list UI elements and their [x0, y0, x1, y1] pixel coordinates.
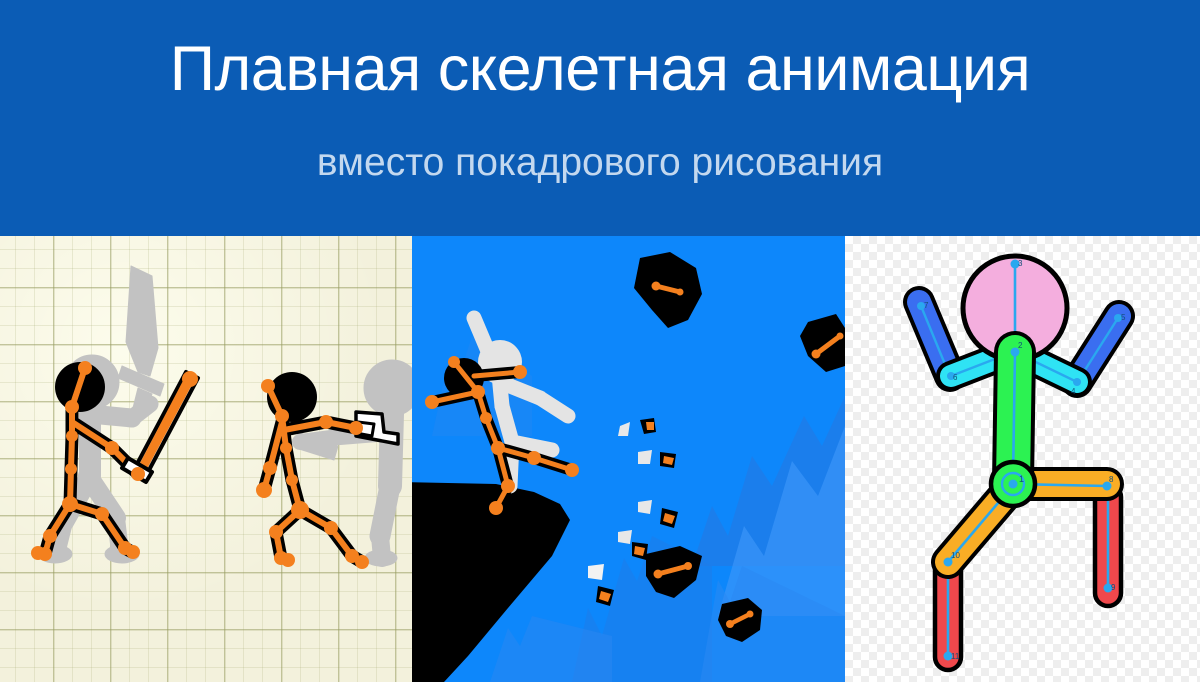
bone-label-7: 7 [924, 301, 929, 310]
bone-label-1: 1 [1019, 474, 1024, 484]
rock-item [634, 252, 702, 328]
sketch-illustration [0, 236, 412, 682]
rig-illustration: 9 8 11 [845, 236, 1200, 682]
sketch-panel: Два скелетных персонажа на миллиметровой… [0, 236, 412, 682]
title-banner: Плавная скелетная анимация вместо покадр… [0, 0, 1200, 236]
bone-label-2: 2 [1018, 341, 1023, 350]
rig-panel: Скелет персонажа с пронумерованными кост… [845, 236, 1200, 682]
cliff-panel: Персонаж на краю обрыва с падающими камн… [412, 236, 845, 682]
bone-label-11: 11 [951, 652, 960, 661]
bone-label-9: 9 [1111, 583, 1116, 592]
bone-label-5: 5 [1121, 313, 1126, 322]
bone-label-10: 10 [951, 551, 960, 560]
page-subtitle: вместо покадрового рисования [0, 142, 1200, 185]
bone-label-3: 3 [1018, 259, 1023, 268]
bone-hip: 1 [991, 462, 1035, 506]
bone-label-4: 4 [1071, 387, 1076, 396]
slide-root: Плавная скелетная анимация вместо покадр… [0, 0, 1200, 682]
cliff-illustration [412, 236, 845, 682]
bone-right-shin: 9 [1095, 484, 1121, 606]
bone-label-6: 6 [953, 373, 958, 382]
page-title: Плавная скелетная анимация [0, 36, 1200, 102]
rock-item [800, 314, 845, 372]
image-strip: Два скелетных персонажа на миллиметровой… [0, 236, 1200, 682]
bone-label-8: 8 [1109, 475, 1114, 484]
